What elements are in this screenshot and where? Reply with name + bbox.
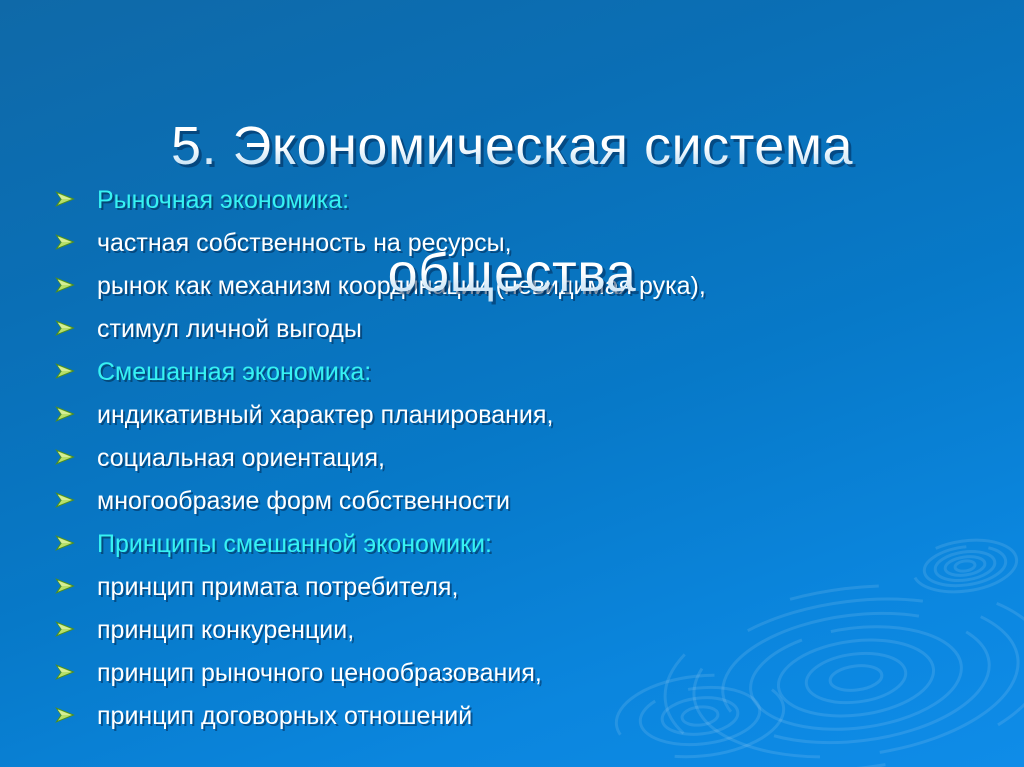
bullet-item: принцип рыночного ценообразования, [55, 653, 975, 696]
bullet-item: принцип примата потребителя, [55, 567, 975, 610]
bullet-item-label: индикативный характер планирования, [97, 403, 553, 428]
bullet-item: принцип конкуренции, [55, 610, 975, 653]
arrow-bullet-icon [55, 695, 97, 723]
bullet-item: индикативный характер планирования, [55, 395, 975, 438]
arrow-bullet-icon [55, 609, 97, 637]
arrow-bullet-icon [55, 566, 97, 594]
arrow-bullet-icon [55, 652, 97, 680]
bullet-item-label: принцип договорных отношений [97, 704, 472, 729]
arrow-bullet-icon [55, 394, 97, 422]
slide-title-line-2: общества [0, 242, 1024, 305]
bullet-item: принцип договорных отношений [55, 696, 975, 739]
bullet-item-label: многообразие форм собственности [97, 489, 510, 514]
slide-title-line-1: 5. Экономическая система [0, 115, 1024, 178]
bullet-item-label: Принципы смешанной экономики: [97, 532, 492, 557]
arrow-bullet-icon [55, 437, 97, 465]
bullet-item-label: принцип рыночного ценообразования, [97, 661, 542, 686]
bullet-item-label: принцип примата потребителя, [97, 575, 458, 600]
slide-title: 5. Экономическая система общества [0, 52, 1024, 368]
bullet-item: многообразие форм собственности [55, 481, 975, 524]
arrow-bullet-icon [55, 523, 97, 551]
presentation-slide: 5. Экономическая система общества Рыночн… [0, 0, 1024, 767]
bullet-item-label: принцип конкуренции, [97, 618, 354, 643]
bullet-item-label: социальная ориентация, [97, 446, 385, 471]
arrow-bullet-icon [55, 480, 97, 508]
bullet-item: социальная ориентация, [55, 438, 975, 481]
bullet-item: Принципы смешанной экономики: [55, 524, 975, 567]
